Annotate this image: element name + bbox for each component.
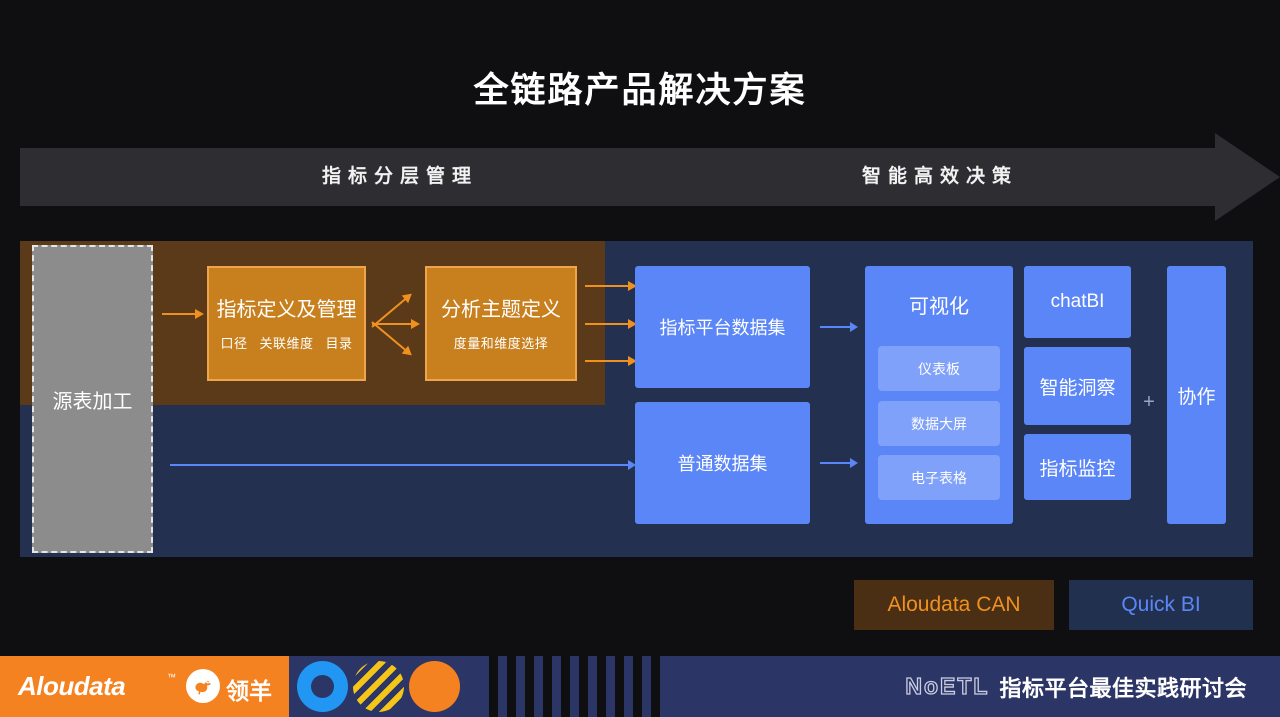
card-smart-insight: 智能洞察 bbox=[1024, 347, 1131, 425]
card-metric-definition-title: 指标定义及管理 bbox=[217, 296, 357, 324]
striped-circle-icon bbox=[353, 661, 404, 712]
metric-subitem-2: 目录 bbox=[326, 336, 353, 351]
group-visualization: 可视化 仪表板 数据大屏 电子表格 bbox=[865, 266, 1013, 524]
arrow-normal-dataset-to-vis-icon bbox=[820, 458, 858, 468]
solution-diagram: 源表加工 指标定义及管理 口径关联维度目录 分析主题定义 度量和维度选择 bbox=[20, 241, 1253, 557]
brand-chinese-name: 领羊 bbox=[226, 672, 272, 706]
sheep-icon bbox=[186, 669, 220, 703]
metric-subitem-1: 关联维度 bbox=[259, 336, 313, 351]
noetl-mark: NoETL bbox=[905, 673, 989, 700]
vis-item-datascreen: 数据大屏 bbox=[878, 401, 1000, 446]
vis-item-dashboard: 仪表板 bbox=[878, 346, 1000, 391]
phase-banner-arrowhead-icon bbox=[1215, 133, 1280, 221]
card-normal-dataset: 普通数据集 bbox=[635, 402, 810, 524]
theme-subitem-0: 度量和维度选择 bbox=[454, 336, 549, 351]
arrow-theme-out-2-icon bbox=[585, 356, 637, 366]
footer-shapes-block bbox=[289, 656, 480, 717]
card-metric-definition: 指标定义及管理 口径关联维度目录 bbox=[207, 266, 366, 381]
arrow-source-to-metric-icon bbox=[162, 309, 204, 319]
footer-event-block: NoETL 指标平台最佳实践研讨会 bbox=[663, 656, 1280, 717]
phase-label-decision: 智能高效决策 bbox=[720, 148, 1160, 206]
event-title: 指标平台最佳实践研讨会 bbox=[999, 671, 1247, 703]
solid-circle-icon bbox=[409, 661, 460, 712]
phase-label-governance: 指标分层管理 bbox=[180, 148, 620, 206]
ring-circle-icon bbox=[297, 661, 348, 712]
footer-bar: Aloudata ™ 领羊 NoETL 指标平台最佳实践研讨会 bbox=[0, 656, 1280, 717]
arrow-theme-out-0-icon bbox=[585, 281, 637, 291]
trademark-symbol: ™ bbox=[167, 672, 176, 682]
card-metric-platform-dataset: 指标平台数据集 bbox=[635, 266, 810, 388]
footer-stripes-pattern bbox=[480, 656, 663, 717]
plus-icon: + bbox=[1138, 391, 1160, 413]
card-theme-definition-subitems: 度量和维度选择 bbox=[448, 333, 555, 352]
aloudata-wordmark: Aloudata bbox=[18, 671, 125, 702]
metric-subitem-0: 口径 bbox=[220, 336, 247, 351]
product-tag-quick-bi: Quick BI bbox=[1069, 580, 1253, 630]
footer-event-inner: NoETL 指标平台最佳实践研讨会 bbox=[905, 671, 1247, 703]
arrow-metric-dataset-to-vis-icon bbox=[820, 322, 858, 332]
footer-brand-block: Aloudata ™ 领羊 bbox=[0, 656, 289, 717]
card-metric-definition-subitems: 口径关联维度目录 bbox=[214, 333, 358, 352]
arrow-theme-out-1-icon bbox=[585, 319, 637, 329]
arrow-source-to-normal-dataset-icon bbox=[170, 460, 636, 470]
card-theme-definition-title: 分析主题定义 bbox=[441, 296, 561, 324]
slide-canvas: 全链路产品解决方案 指标分层管理 智能高效决策 源表加工 指标定义及管理 口径关… bbox=[0, 0, 1280, 717]
product-tag-aloudata-can: Aloudata CAN bbox=[854, 580, 1054, 630]
vis-item-spreadsheet: 电子表格 bbox=[878, 455, 1000, 500]
source-table-box: 源表加工 bbox=[32, 245, 153, 553]
card-chatbi: chatBI bbox=[1024, 266, 1131, 338]
group-visualization-title: 可视化 bbox=[865, 290, 1013, 319]
phase-banner: 指标分层管理 智能高效决策 bbox=[20, 148, 1260, 206]
card-metric-monitoring: 指标监控 bbox=[1024, 434, 1131, 500]
card-collaboration: 协作 bbox=[1167, 266, 1226, 524]
page-title: 全链路产品解决方案 bbox=[0, 62, 1280, 113]
card-theme-definition: 分析主题定义 度量和维度选择 bbox=[425, 266, 577, 381]
